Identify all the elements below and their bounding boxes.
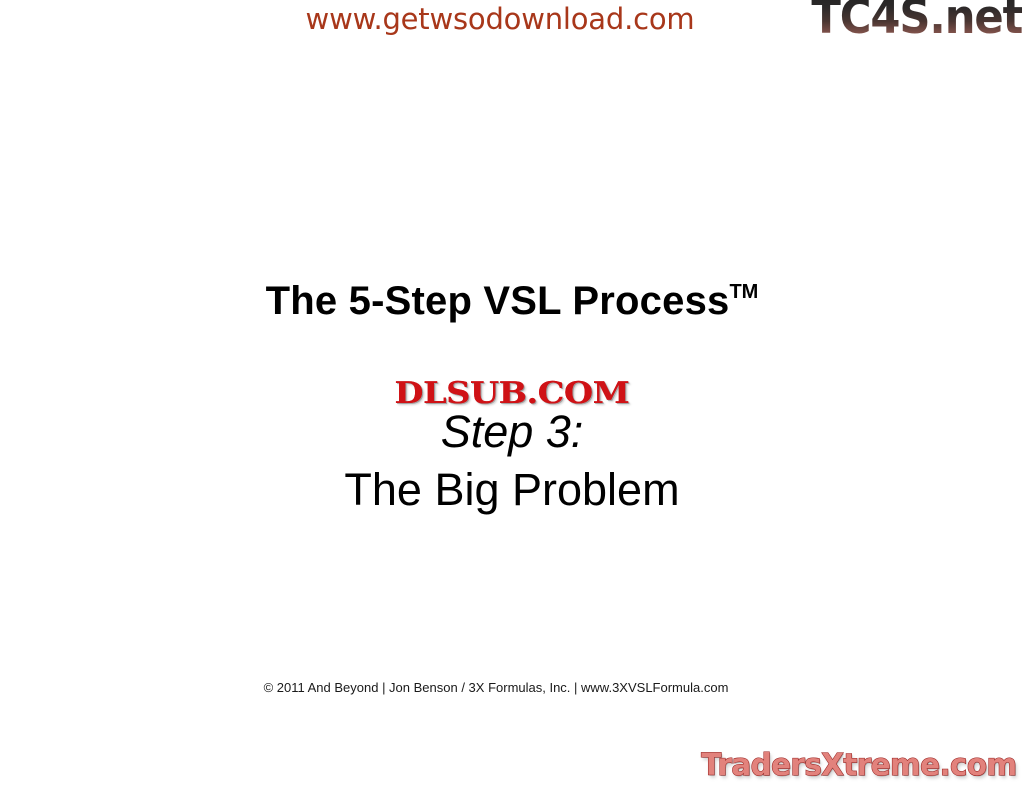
subtitle-step-label: Step 3:: [0, 406, 1024, 458]
trademark-symbol: TM: [729, 281, 758, 303]
presentation-slide: www.getwsodownload.com TC4S.net The 5-St…: [0, 0, 1024, 791]
tradersxtreme-watermark-logo: TradersXtreme.com TradersXtreme.com: [698, 748, 1020, 783]
subtitle-topic-label: The Big Problem: [0, 464, 1024, 516]
tc4s-watermark-logo: TC4S.net: [811, 0, 1022, 41]
tradersxtreme-watermark-outline: TradersXtreme.com: [701, 748, 1016, 783]
footer-credit-text: © 2011 And Beyond | Jon Benson / 3X Form…: [0, 680, 1008, 695]
page-title: The 5-Step VSL ProcessTM: [0, 279, 1024, 324]
page-title-text: The 5-Step VSL Process: [266, 279, 730, 323]
tradersxtreme-watermark-fill: TradersXtreme.com: [698, 748, 1020, 783]
tradersxtreme-watermark-fill-text: TradersXtreme.com: [701, 748, 1016, 783]
